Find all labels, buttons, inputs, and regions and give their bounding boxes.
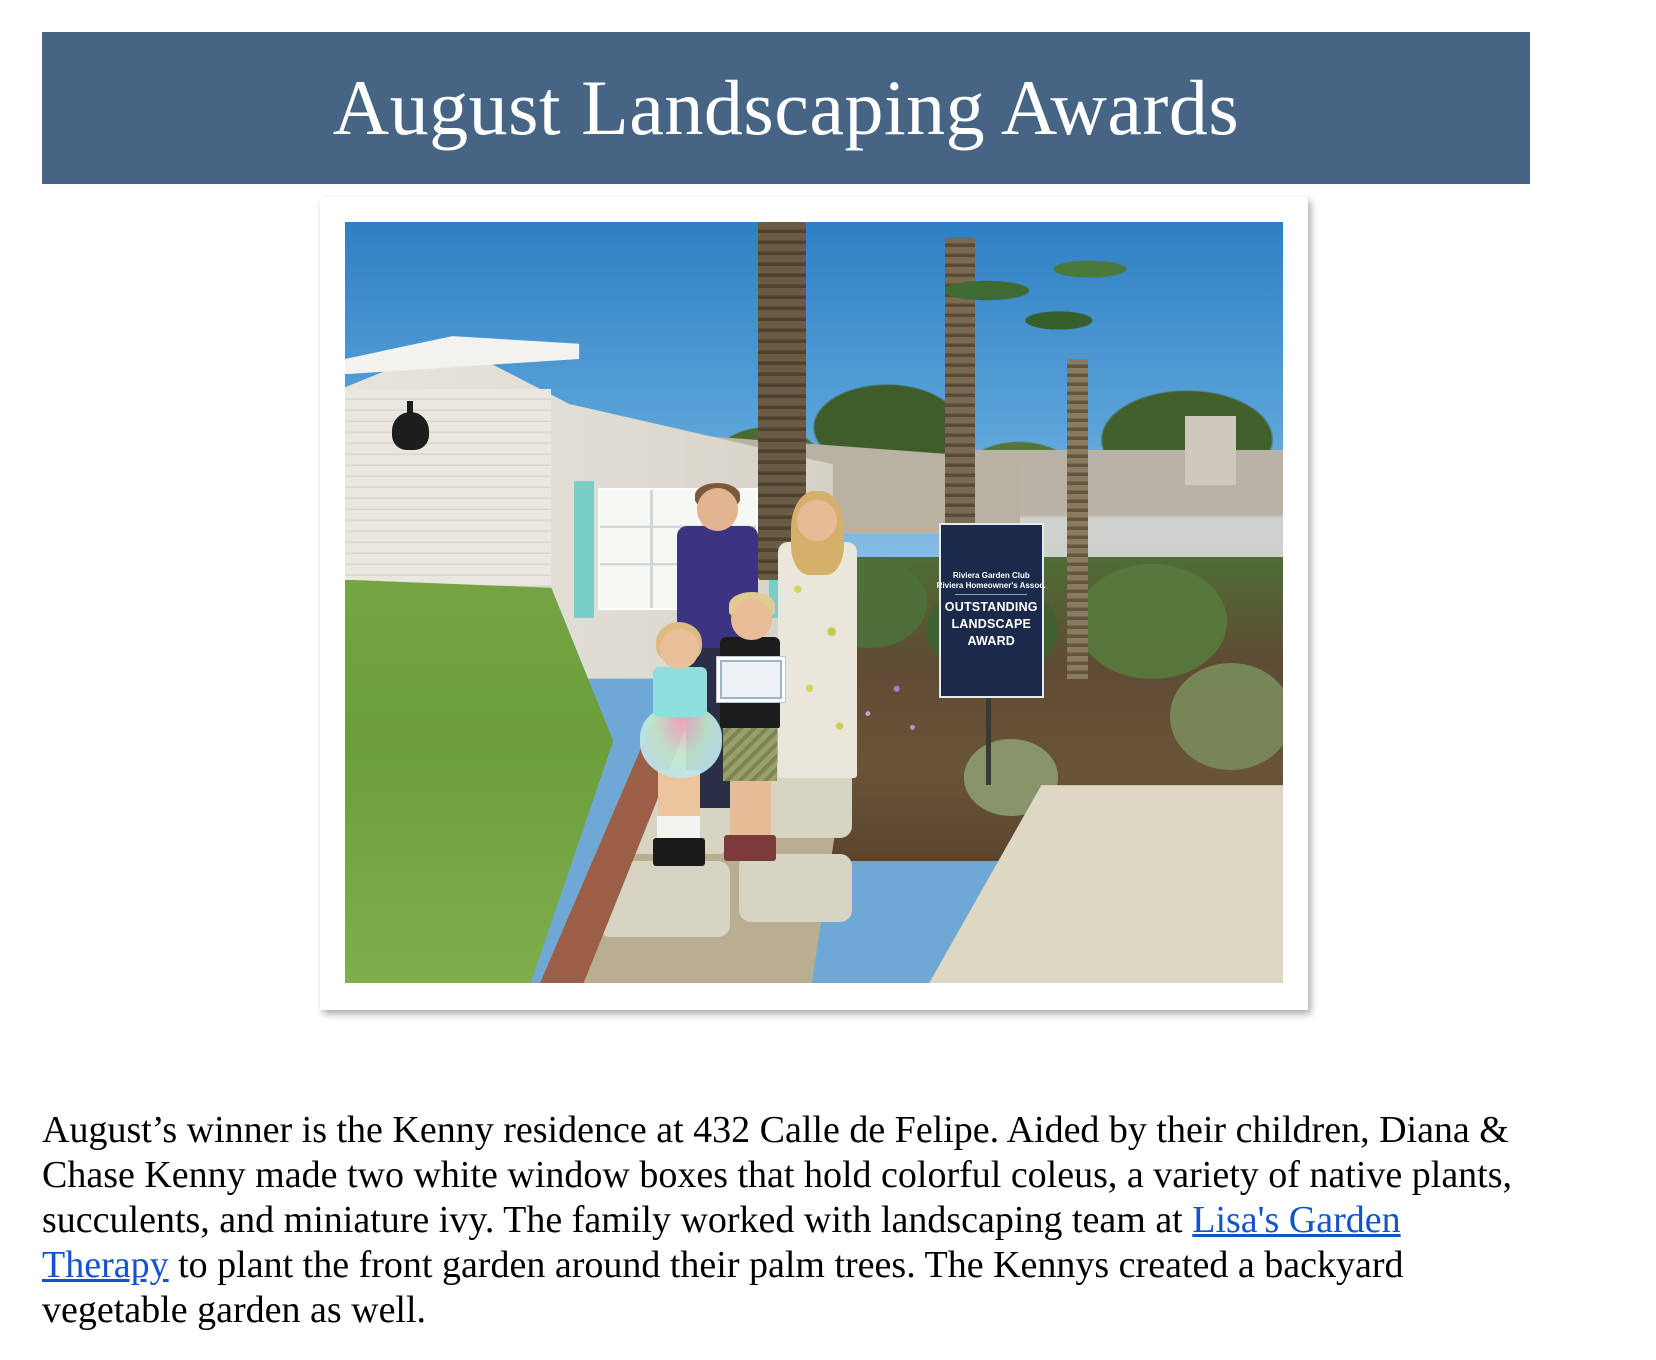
son-shoes [724, 835, 777, 862]
photo-frame: Riviera Garden Club Riviera Homeowner's … [320, 197, 1308, 1010]
sign-award-line-3: AWARD [968, 633, 1016, 650]
shrub [1077, 564, 1227, 678]
chimney [1185, 416, 1237, 484]
flagstone [739, 854, 852, 922]
porch-lamp-icon [392, 412, 430, 450]
father-head [697, 488, 738, 531]
son-legs [730, 778, 771, 839]
palm-fronds [945, 237, 1151, 344]
palm-tree-trunk [1067, 359, 1088, 679]
daughter-top [653, 667, 707, 716]
sign-award-line-1: OUTSTANDING [945, 599, 1038, 616]
page-header-banner: August Landscaping Awards [42, 32, 1530, 184]
sign-organization-line-2: Riviera Homeowner's Assoc. [937, 581, 1046, 591]
daughter-shoes [653, 838, 706, 865]
mother-dress [778, 542, 857, 778]
mother-head [797, 500, 836, 541]
window-shutter-left [574, 481, 595, 618]
son-shorts [723, 724, 777, 781]
award-certificate [716, 656, 786, 704]
sign-organization-line-1: Riviera Garden Club [953, 571, 1030, 581]
shrub [1170, 663, 1283, 770]
sign-award-line-2: LANDSCAPE [951, 616, 1031, 633]
page-title: August Landscaping Awards [333, 69, 1240, 147]
yard-sign-post [986, 694, 992, 785]
son-head [731, 599, 771, 640]
article-body-paragraph: August’s winner is the Kenny residence a… [42, 1108, 1534, 1333]
daughter-head [660, 629, 698, 669]
sign-divider [955, 594, 1027, 595]
outstanding-landscape-award-sign: Riviera Garden Club Riviera Homeowner's … [939, 523, 1044, 698]
body-text-segment-2: to plant the front garden around their p… [42, 1244, 1403, 1331]
award-winner-photo: Riviera Garden Club Riviera Homeowner's … [345, 222, 1283, 983]
